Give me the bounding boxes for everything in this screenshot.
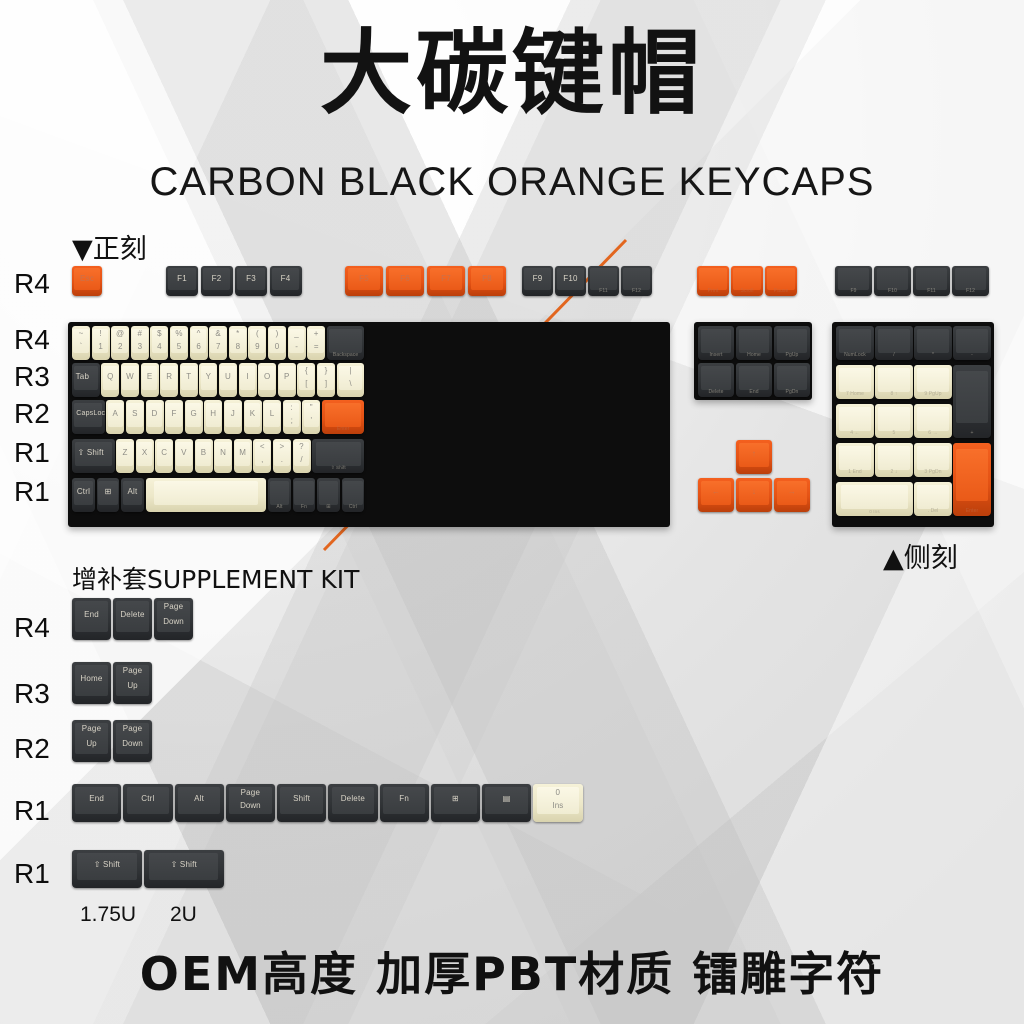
keycap-surface <box>154 481 258 505</box>
keycap-side-legend: F11 <box>588 288 619 294</box>
keycap-supp-r3-0[interactable]: Home <box>72 662 111 704</box>
keycap-supp-shift-0[interactable]: ⇧ Shift <box>72 850 142 888</box>
keycap-legend-bottom: 4 <box>150 342 168 351</box>
keycap-f7[interactable]: F7 <box>427 266 465 296</box>
keycap-nav-end[interactable]: End <box>736 363 772 397</box>
keycap--[interactable]: {[ <box>297 363 315 397</box>
keycap-supp-r1-3[interactable]: PageDown <box>226 784 275 822</box>
keycap-legend: Fn <box>380 795 429 803</box>
keycap-f3[interactable]: F3 <box>235 266 267 296</box>
keycap-numpad-1-end[interactable]: 1 End <box>836 443 874 477</box>
keycap-surface <box>839 329 872 353</box>
keycap-supp-r2-0[interactable]: PageUp <box>72 720 111 762</box>
keycap-legend-bottom: Up <box>113 681 152 690</box>
keycap-legend: Y <box>199 373 217 381</box>
keycap-arrow-down[interactable]: ↓ <box>736 478 772 512</box>
keycap-legend: End <box>72 795 121 803</box>
keycap-numpad--[interactable]: / <box>875 326 913 360</box>
keycap-legend: ⇧ Shift <box>72 861 142 869</box>
keycap-legend: F7 <box>427 275 465 283</box>
keycap-nav-home[interactable]: Home <box>736 326 772 360</box>
row-label-supp-1: R3 <box>14 678 66 710</box>
keycap-scroll[interactable]: Scroll <box>731 266 763 296</box>
keycap--shift[interactable]: ⇧ Shift <box>312 439 364 473</box>
keycap-supp-r1-4[interactable]: Shift <box>277 784 326 822</box>
keycap-side-legend: Insert <box>698 352 734 358</box>
keycap--[interactable]: <, <box>253 439 271 473</box>
keycap-side-f11[interactable]: F11 <box>913 266 950 296</box>
keycap-legend: → <box>774 488 810 496</box>
keycap-y[interactable]: Y <box>199 363 217 397</box>
keycap-supp-r4-2[interactable]: PageDown <box>154 598 193 640</box>
keycap-surface <box>739 366 770 390</box>
keycap--[interactable]: @2 <box>111 326 129 360</box>
keycap-legend-bottom: 8 <box>229 342 247 351</box>
keycap-legend-top: Page <box>113 667 152 675</box>
keycap-legend: O <box>258 373 276 381</box>
keycap-fnrow-f10[interactable]: F10 <box>555 266 586 296</box>
row-label-supp-0: R4 <box>14 612 66 644</box>
keycap-legend: R <box>160 373 178 381</box>
keycap-legend: F4 <box>270 275 302 283</box>
keycap-numpad--[interactable]: * <box>914 326 952 360</box>
keycap-legend: C <box>155 449 173 457</box>
keycap-surface <box>878 368 911 392</box>
keycap--[interactable]: ⊞ <box>97 478 120 512</box>
row-label-supp-2: R2 <box>14 733 66 765</box>
keycap-legend: Z <box>116 449 134 457</box>
keycap-legend-bottom: / <box>293 455 311 464</box>
keycap-legend-bottom: Up <box>72 739 111 748</box>
keycap-legend: Ctrl <box>123 795 172 803</box>
keycap-side-legend: 2 ↓ <box>875 469 913 475</box>
keycap-side-legend: / <box>875 352 913 358</box>
keycap-side-legend: F10 <box>874 288 911 294</box>
keycap--[interactable]: #3 <box>131 326 149 360</box>
keycap-u[interactable]: U <box>219 363 237 397</box>
keycap-surface <box>590 268 617 290</box>
keycap-t[interactable]: T <box>180 363 198 397</box>
page-title: 大碳键帽 <box>0 28 1024 120</box>
keycap-numpad-9-pgup[interactable]: 9 PgUp <box>914 365 952 399</box>
keycap-f[interactable]: F <box>165 400 183 434</box>
keycap-supp-r4-1[interactable]: Delete <box>113 598 152 640</box>
keycap-legend: G <box>185 410 203 418</box>
keycap-legend-top: % <box>170 330 188 338</box>
row-label-supp-3: R1 <box>14 795 66 827</box>
keycap-f8[interactable]: F8 <box>468 266 506 296</box>
keycap-surface <box>701 329 732 353</box>
keycap-supp-r1-6[interactable]: Fn <box>380 784 429 822</box>
keycap-legend: F2 <box>201 275 233 283</box>
keycap-legend-top: ~ <box>72 330 90 338</box>
side-print-marker: ▲侧刻 <box>883 536 958 575</box>
keycap-side-f12[interactable]: F12 <box>952 266 989 296</box>
keycap-legend-bottom: ' <box>302 416 320 425</box>
keycap-h[interactable]: H <box>204 400 222 434</box>
keycap-legend-top: ! <box>92 330 110 338</box>
keycap-legend-bottom: \ <box>337 379 365 388</box>
keycap-side-legend: + <box>953 430 991 436</box>
keycap-legend-top: Page <box>72 725 111 733</box>
keycap-legend: F6 <box>386 275 424 283</box>
keycap-numpad-7-home[interactable]: 7 Home <box>836 365 874 399</box>
keycap-nav-pgdn[interactable]: PgDn <box>774 363 810 397</box>
keycap-legend: A <box>106 410 124 418</box>
keycap-legend-top: Page <box>226 789 275 797</box>
keycap-side-legend: Fn <box>293 504 316 510</box>
keycap-legend-top: # <box>131 330 149 338</box>
keycap-j[interactable]: J <box>224 400 242 434</box>
keycap-surface <box>917 446 950 470</box>
keycap-legend-top: $ <box>150 330 168 338</box>
keycap-arrow-up[interactable]: ↑ <box>736 440 772 474</box>
keycap-surface <box>319 481 339 505</box>
keycap-legend-top: | <box>337 367 365 375</box>
keycap-surface <box>699 268 727 290</box>
keycap-numpad-plus[interactable]: + <box>953 365 991 438</box>
keycap-surface <box>623 268 650 290</box>
keycap--[interactable]: |\ <box>337 363 365 397</box>
keycap-legend-top: Page <box>154 603 193 611</box>
keycap--[interactable]: "' <box>302 400 320 434</box>
keycap--[interactable]: ~` <box>72 326 90 360</box>
keycap--shift[interactable]: ⇧ Shift <box>72 439 115 473</box>
row-label-main-4: R1 <box>14 437 66 469</box>
keycap-z[interactable]: Z <box>116 439 134 473</box>
keycap-legend-top: ) <box>268 330 286 338</box>
size-label-175u: 1.75U <box>80 903 136 927</box>
keycap--[interactable]: :; <box>283 400 301 434</box>
keycap-surface <box>878 329 911 353</box>
keycap-side-legend: F9 <box>835 288 872 294</box>
keycap-supp-r1-9[interactable]: 0Ins <box>533 784 582 822</box>
keycap-legend: Alt <box>175 795 224 803</box>
keycap-supp-r3-1[interactable]: PageUp <box>113 662 152 704</box>
keycap--[interactable]: *8 <box>229 326 247 360</box>
keycap-e[interactable]: E <box>141 363 159 397</box>
keycap-k[interactable]: K <box>244 400 262 434</box>
keycap-side-legend: Backspace <box>327 352 365 358</box>
keycap-legend: I <box>239 373 257 381</box>
keycap-enter[interactable]: Enter <box>322 400 365 434</box>
supplement-kit-title: 增补套SUPPLEMENT KIT <box>72 560 359 596</box>
keycap-legend: Tab <box>72 373 100 381</box>
row-label-main-5: R1 <box>14 476 66 508</box>
keycap-x[interactable]: X <box>136 439 154 473</box>
keycap-fnrow-f11[interactable]: F11 <box>588 266 619 296</box>
keycap-numpad-enter[interactable]: Enter <box>953 443 991 516</box>
keycap-legend: Q <box>101 373 119 381</box>
keycap-legend-bottom: = <box>307 342 325 351</box>
keycap-side-legend: ⇧ Shift <box>312 465 364 471</box>
keycap-legend: Ctrl <box>72 488 95 496</box>
keycap-surface <box>838 268 870 290</box>
keycap-legend-bottom: 3 <box>131 342 149 351</box>
keycap-side-legend: Alt <box>268 504 291 510</box>
keycap-supp-r1-5[interactable]: Delete <box>328 784 377 822</box>
keycap-legend-top: _ <box>288 330 306 338</box>
keycap-legend-bottom: Down <box>226 801 275 810</box>
keycap--[interactable]: %5 <box>170 326 188 360</box>
keycap-legend: F8 <box>468 275 506 283</box>
keycap-fn[interactable]: Fn <box>293 478 316 512</box>
windows-icon: ⊞ <box>97 488 120 496</box>
keycap-legend-bottom: 7 <box>209 342 227 351</box>
keycap-surface <box>917 407 950 431</box>
keycap--[interactable]: ?/ <box>293 439 311 473</box>
keycap-legend: S <box>126 410 144 418</box>
keycap-surface <box>325 403 362 427</box>
keycap-legend-bottom: Down <box>154 617 193 626</box>
row-label-main-1: R4 <box>14 324 66 356</box>
keycap-supp-shift-1[interactable]: ⇧ Shift <box>144 850 224 888</box>
keycap-r[interactable]: R <box>160 363 178 397</box>
keycap-alt[interactable]: Alt <box>268 478 291 512</box>
keycap-supp-r1-1[interactable]: Ctrl <box>123 784 172 822</box>
keycap-legend: N <box>214 449 232 457</box>
keycap-surface <box>916 268 948 290</box>
keycap-legend: CapsLock <box>72 410 105 417</box>
keycap-surface <box>877 268 909 290</box>
keycap-legend: U <box>219 373 237 381</box>
keycap--[interactable]: ^6 <box>190 326 208 360</box>
keycap-side-legend: 3 PgDn <box>914 469 952 475</box>
keycap-legend-bottom: 5 <box>170 342 188 351</box>
keycap-surface <box>343 481 363 505</box>
keycap-legend: ⇧ Shift <box>144 861 224 869</box>
keycap--[interactable]: _- <box>288 326 306 360</box>
keycap-side-legend: Ctrl <box>342 504 365 510</box>
keycap-side-legend: NumLock <box>836 352 874 358</box>
keycap-legend: X <box>136 449 154 457</box>
keycap-legend-top: ? <box>293 443 311 451</box>
size-label-2u: 2U <box>170 903 197 927</box>
keycap-arrow-right[interactable]: → <box>774 478 810 512</box>
keycap-supp-r1-2[interactable]: Alt <box>175 784 224 822</box>
keycap-numpad-2-[interactable]: 2 ↓ <box>875 443 913 477</box>
keycap-surface <box>878 407 911 431</box>
keycap-side-legend: 8 ↑ <box>875 391 913 397</box>
keycap-fnrow-f12[interactable]: F12 <box>621 266 652 296</box>
keycap--[interactable]: += <box>307 326 325 360</box>
keycap-side-legend: 9 PgUp <box>914 391 952 397</box>
keycap-f1[interactable]: F1 <box>166 266 198 296</box>
keycap-nav-delete[interactable]: Delete <box>698 363 734 397</box>
keycap-w[interactable]: W <box>121 363 139 397</box>
keycap-surface <box>839 407 872 431</box>
keycap-side-legend: 4 ← <box>836 430 874 436</box>
keycap-legend-bottom: 1 <box>92 342 110 351</box>
keycap-legend-top: * <box>229 330 247 338</box>
keycap-fnrow-f9[interactable]: F9 <box>522 266 553 296</box>
keycap-surface <box>767 268 795 290</box>
keycap-ctrl[interactable]: Ctrl <box>72 478 95 512</box>
keycap-side-legend: ⊞ <box>317 504 340 510</box>
keycap-side-f9[interactable]: F9 <box>835 266 872 296</box>
keycap-side-legend: Home <box>736 352 772 358</box>
keycap-legend-bottom: 6 <box>190 342 208 351</box>
keycap-backspace[interactable]: Backspace <box>327 326 365 360</box>
keycap-legend-bottom: 0 <box>268 342 286 351</box>
keycap-side-legend: F12 <box>952 288 989 294</box>
row-label-main-2: R3 <box>14 361 66 393</box>
keycap-p[interactable]: P <box>278 363 296 397</box>
keycap-f5[interactable]: F5 <box>345 266 383 296</box>
keycap-surface <box>956 449 989 502</box>
keycap-legend: Delete <box>328 795 377 803</box>
keycap-v[interactable]: V <box>175 439 193 473</box>
keycap-i[interactable]: I <box>239 363 257 397</box>
keycap-numpad-5[interactable]: 5 <box>875 404 913 438</box>
keycap-legend-top: } <box>317 367 335 375</box>
keycap-surface <box>956 329 989 353</box>
keycap--[interactable]: }] <box>317 363 335 397</box>
keycap-side-legend: Pause <box>765 288 797 294</box>
keycap-surface <box>316 442 361 466</box>
keycap-legend: F1 <box>166 275 198 283</box>
keycap-arrow-left[interactable]: ← <box>698 478 734 512</box>
keycap-supp-r1-0[interactable]: End <box>72 784 121 822</box>
keycap-legend: T <box>180 373 198 381</box>
keycap-f4[interactable]: F4 <box>270 266 302 296</box>
keycap-esc[interactable]: Esc <box>72 266 102 296</box>
keycap-side-legend: Print <box>697 288 729 294</box>
row-label-supp-4: R1 <box>14 858 66 890</box>
keycap-nav-pgup[interactable]: PgUp <box>774 326 810 360</box>
keycap-b[interactable]: B <box>195 439 213 473</box>
keycap-numpad-3-pgdn[interactable]: 3 PgDn <box>914 443 952 477</box>
keycap-legend-top: { <box>297 367 315 375</box>
keycap-f2[interactable]: F2 <box>201 266 233 296</box>
keycap-alt[interactable]: Alt <box>121 478 144 512</box>
keycap-surface <box>955 268 987 290</box>
keycap-legend: ⇧ Shift <box>72 449 115 457</box>
keycap-numpad-numlock[interactable]: NumLock <box>836 326 874 360</box>
keycap-side-legend: 7 Home <box>836 391 874 397</box>
keycap-side-legend: 1 End <box>836 469 874 475</box>
keycap-surface <box>956 371 989 424</box>
page-footer: OEM高度 加厚PBT材质 镭雕字符 <box>0 938 1024 1004</box>
row-label-main-0: R4 <box>14 268 66 300</box>
keycap-legend: Alt <box>121 488 144 496</box>
keycap-s[interactable]: S <box>126 400 144 434</box>
keycap-d[interactable]: D <box>146 400 164 434</box>
keycap-numpad-0-ins[interactable]: 0 Ins <box>836 482 913 516</box>
keycap-n[interactable]: N <box>214 439 232 473</box>
keycap-side-f10[interactable]: F10 <box>874 266 911 296</box>
keycap-surface <box>777 329 808 353</box>
keycap-numpad-6-[interactable]: 6 → <box>914 404 952 438</box>
keycap-l[interactable]: L <box>263 400 281 434</box>
keycap-legend-bottom: ; <box>283 416 301 425</box>
keycap-c[interactable]: C <box>155 439 173 473</box>
keycap-legend-top: + <box>307 330 325 338</box>
keycap-legend-top: < <box>253 443 271 451</box>
keycap-supp-r1-8[interactable]: ▤ <box>482 784 531 822</box>
menu-icon: ▤ <box>482 795 531 803</box>
keycap-q[interactable]: Q <box>101 363 119 397</box>
keycap-ctrl[interactable]: Ctrl <box>342 478 365 512</box>
keycap--[interactable]: !1 <box>92 326 110 360</box>
keycap-surface <box>878 446 911 470</box>
keycap-m[interactable]: M <box>234 439 252 473</box>
keycap-surface <box>701 366 732 390</box>
keycap-supp-r4-0[interactable]: End <box>72 598 111 640</box>
keycap-surface <box>329 329 361 353</box>
keycap-legend-top: : <box>283 404 301 412</box>
keycap-legend-bottom: - <box>288 342 306 351</box>
keycap-pause[interactable]: Pause <box>765 266 797 296</box>
keycap-surface <box>739 329 770 353</box>
keycap-nav-insert[interactable]: Insert <box>698 326 734 360</box>
keycap-numpad--[interactable]: - <box>953 326 991 360</box>
keycap-surface <box>917 368 950 392</box>
keycap-supp-r2-1[interactable]: PageDown <box>113 720 152 762</box>
keycap--[interactable]: )0 <box>268 326 286 360</box>
keycap-legend-top: Page <box>113 725 152 733</box>
keycap-side-legend: . Del <box>914 508 952 514</box>
keycap-side-legend: - <box>953 352 991 358</box>
keycap-numpad--del[interactable]: . Del <box>914 482 952 516</box>
keycap-legend: J <box>224 410 242 418</box>
keycap-side-legend: 6 → <box>914 430 952 436</box>
keycap-legend-bottom: ` <box>72 342 90 351</box>
keycap-surface <box>294 481 314 505</box>
keycap--[interactable]: ⊞ <box>317 478 340 512</box>
keycap-supp-r1-7[interactable]: ⊞ <box>431 784 480 822</box>
keycap-capslock[interactable]: CapsLock <box>72 400 105 434</box>
keycap--[interactable]: (9 <box>248 326 266 360</box>
keycap-surface <box>841 485 907 509</box>
keycap-legend: F10 <box>555 275 586 283</box>
keycap-numpad-4-[interactable]: 4 ← <box>836 404 874 438</box>
page-subtitle: CARBON BLACK ORANGE KEYCAPS <box>0 160 1024 205</box>
keycap-tab[interactable]: Tab <box>72 363 100 397</box>
keycap-legend-top: " <box>302 404 320 412</box>
keycap--[interactable]: $4 <box>150 326 168 360</box>
keycap-legend-top: ( <box>248 330 266 338</box>
windows-icon: ⊞ <box>431 795 480 803</box>
keycap-a[interactable]: A <box>106 400 124 434</box>
keycap-legend-top: ^ <box>190 330 208 338</box>
keycap-numpad-8-[interactable]: 8 ↑ <box>875 365 913 399</box>
keycap-legend: K <box>244 410 262 418</box>
keycap--[interactable]: >. <box>273 439 291 473</box>
keycap-f6[interactable]: F6 <box>386 266 424 296</box>
keycap-side-legend: Enter <box>322 426 365 432</box>
keycap--[interactable]: &7 <box>209 326 227 360</box>
row-label-main-3: R2 <box>14 398 66 430</box>
keycap-surface <box>270 481 290 505</box>
keycap-legend: L <box>263 410 281 418</box>
front-print-marker: ▼正刻 <box>72 227 147 266</box>
keycap-legend: ← <box>698 488 734 496</box>
keycap-legend: End <box>72 611 111 619</box>
keycap-legend-bottom: Ins <box>533 801 582 810</box>
keycap-o[interactable]: O <box>258 363 276 397</box>
keycap-surface <box>839 446 872 470</box>
keycap-legend: H <box>204 410 222 418</box>
keycap-legend-top: 0 <box>533 789 582 797</box>
keycap-side-legend: 5 <box>875 430 913 436</box>
keycap-legend: ↓ <box>736 488 772 496</box>
keycap-g[interactable]: G <box>185 400 203 434</box>
keycap-spacebar[interactable] <box>146 478 267 512</box>
keycap-print[interactable]: Print <box>697 266 729 296</box>
keycap-legend-bottom: ] <box>317 379 335 388</box>
keycap-legend: W <box>121 373 139 381</box>
